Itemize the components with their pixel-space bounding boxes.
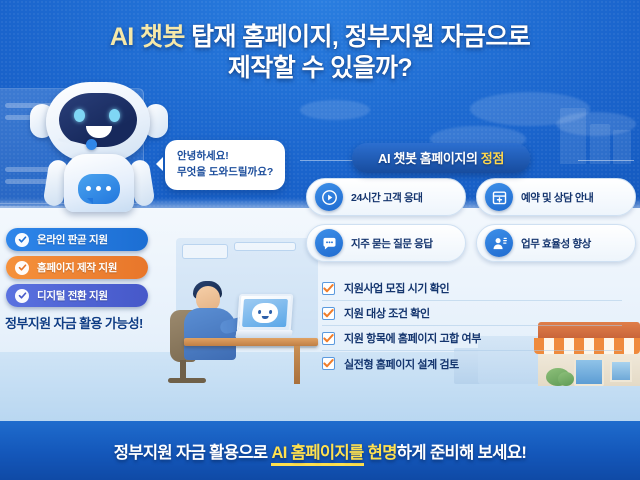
chat-bubble-icon xyxy=(78,174,120,204)
benefit-pill-label: 홈페이지 제작 지원 xyxy=(37,260,117,275)
mouth xyxy=(262,316,269,319)
robot-face-screen xyxy=(59,93,137,147)
robot-mic-tip xyxy=(86,139,97,150)
promo-banner: AI 챗봇 탑재 홈페이지, 정부지원 자금으로 제작할 수 있을까? xyxy=(0,0,640,480)
footer-part-4: 하게 준비해 보세요! xyxy=(397,444,527,462)
desk-scene-illustration xyxy=(176,238,318,386)
benefit-pill-label: 온라인 판곧 지원 xyxy=(37,232,108,247)
checkbox-checked-icon xyxy=(322,282,335,295)
clock-icon xyxy=(315,183,343,211)
robot-eye-left xyxy=(74,109,85,122)
footer-banner: 정부지원 자금 활용으로 AI 홈페이지를 현명하게 준비해 보세요! xyxy=(0,421,640,480)
feature-card-24h-support[interactable]: 24시간 고객 응대 xyxy=(306,178,466,216)
robot-head xyxy=(46,82,150,162)
section-title-highlight: 정점 xyxy=(481,151,504,166)
speech-line-2: 무엇을 도와드릴까요? xyxy=(177,164,273,180)
desk-surface xyxy=(184,338,318,346)
checklist-label: 실전형 홈페이지 설계 검토 xyxy=(344,356,459,372)
section-rule-left xyxy=(300,160,354,161)
feature-label: 예약 및 상담 안내 xyxy=(521,190,593,205)
check-circle-icon xyxy=(15,233,29,247)
building-silhouette xyxy=(590,124,610,164)
headline-line-1-rest: 탑재 홈페이지, 정부지원 자금으로 xyxy=(185,23,530,51)
headline-highlight: AI 챗봇 xyxy=(110,23,185,51)
person-body xyxy=(184,308,236,360)
dot xyxy=(106,186,111,191)
speech-line-1: 안녕하세요! xyxy=(177,148,273,164)
headline: AI 챗봇 탑재 홈페이지, 정부지원 자금으로 제작할 수 있을까? xyxy=(0,22,640,83)
benefit-pill-homepage-build[interactable]: 홈페이지 제작 지원 xyxy=(6,256,148,279)
checkbox-checked-icon xyxy=(322,332,335,345)
section-title-pill: AI 챗봇 홈페이지의 정점 xyxy=(352,143,530,173)
headline-line-2: 제작할 수 있을까? xyxy=(0,53,640,84)
chair-stem xyxy=(180,360,186,380)
dot xyxy=(86,186,91,191)
chair-base xyxy=(168,378,206,383)
cloud-shape xyxy=(300,100,370,120)
eye xyxy=(258,310,261,314)
chat-bubble-icon xyxy=(315,229,343,257)
benefit-pill-online-sales[interactable]: 온라인 판곧 지원 xyxy=(6,228,148,251)
checklist-item[interactable]: 실전형 홈페이지 설계 검토 xyxy=(322,351,622,376)
checklist-label: 지원 항목에 홈페이지 고합 여부 xyxy=(344,330,481,346)
dot xyxy=(96,186,101,191)
footer-part-1: 정부지원 자금 활용으로 xyxy=(114,444,272,462)
benefit-pill-list: 온라인 판곧 지원 홈페이지 제작 지원 디지털 전환 지원 xyxy=(6,228,148,312)
feature-label: 지주 묻는 질문 응답 xyxy=(351,236,433,251)
feature-card-booking-guide[interactable]: 예약 및 상담 안내 xyxy=(476,178,636,216)
checklist-label: 지원사업 모집 시기 확인 xyxy=(344,280,449,296)
check-circle-icon xyxy=(15,289,29,303)
feature-label: 24시간 고객 응대 xyxy=(351,190,422,205)
checklist-item[interactable]: 지원 대상 조건 확인 xyxy=(322,301,622,326)
feature-card-faq-answers[interactable]: 지주 묻는 질문 응답 xyxy=(306,224,466,262)
eye xyxy=(269,310,272,314)
benefit-pill-digital-transition[interactable]: 디지털 전환 지원 xyxy=(6,284,148,307)
building-silhouette xyxy=(613,130,631,164)
robot-mascot xyxy=(24,82,174,212)
footer-highlight: 현명 xyxy=(364,444,397,462)
desk-leg xyxy=(294,346,300,384)
robot-face-icon xyxy=(251,303,278,323)
laptop-base xyxy=(235,330,293,338)
footer-underlined: AI 홈페이지를 xyxy=(271,444,363,466)
benefit-pill-label: 디지털 전환 지원 xyxy=(37,288,108,303)
checklist: 지원사업 모집 시기 확인 지원 대상 조건 확인 지원 항목에 홈페이지 고합… xyxy=(322,276,622,376)
laptop-screen xyxy=(237,294,294,332)
wall-panel xyxy=(182,244,228,259)
wall-panel xyxy=(234,242,296,251)
feature-card-efficiency[interactable]: 업무 효율성 향상 xyxy=(476,224,636,262)
checklist-item[interactable]: 지원사업 모집 시기 확인 xyxy=(322,276,622,301)
checklist-item[interactable]: 지원 항목에 홈페이지 고합 여부 xyxy=(322,326,622,351)
laptop-display xyxy=(242,299,288,327)
building-silhouette xyxy=(560,108,586,164)
feature-label: 업무 효율성 향상 xyxy=(521,236,591,251)
section-title-main: AI 챗봇 홈페이지의 xyxy=(378,151,481,166)
left-tagline: 정부지원 자금 활용 가능성! xyxy=(5,313,143,332)
checkbox-checked-icon xyxy=(322,357,335,370)
robot-speech-bubble: 안녕하세요! 무엇을 도와드릴까요? xyxy=(165,140,285,190)
check-circle-icon xyxy=(15,261,29,275)
footer-text: 정부지원 자금 활용으로 AI 홈페이지를 현명하게 준비해 보세요! xyxy=(114,439,527,463)
section-rule-right xyxy=(578,160,634,161)
robot-eye-right xyxy=(109,109,120,122)
checklist-label: 지원 대상 조건 확인 xyxy=(344,305,430,321)
headline-line-1: AI 챗봇 탑재 홈페이지, 정부지원 자금으로 xyxy=(0,22,640,53)
robot-smile xyxy=(86,126,112,138)
calendar-plus-icon xyxy=(485,183,513,211)
user-speaking-icon xyxy=(485,229,513,257)
feature-grid: 24시간 고객 응대 예약 및 상담 안내 지주 xyxy=(306,178,636,262)
checkbox-checked-icon xyxy=(322,307,335,320)
